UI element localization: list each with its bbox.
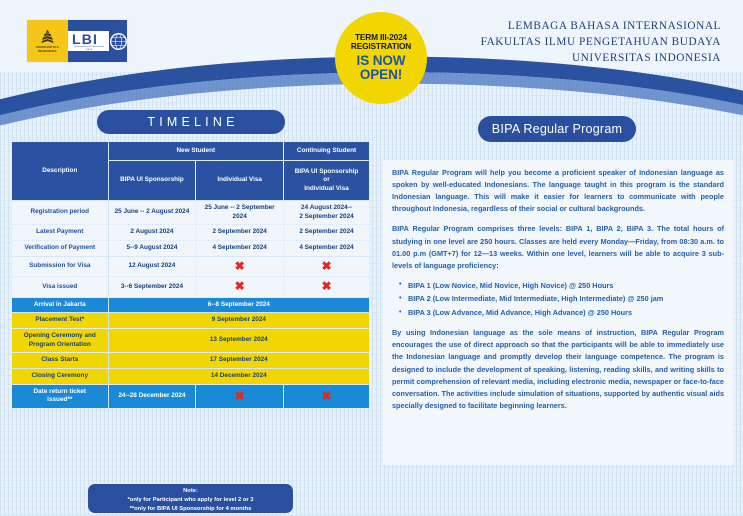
bipa-program-heading: BIPA Regular Program — [478, 116, 636, 142]
table-row: Class Starts17 September 2024 — [12, 353, 369, 368]
program-description-box: BIPA Regular Program will help you becom… — [383, 160, 733, 465]
table-header-row-1: Description New Student Continuing Stude… — [12, 142, 369, 160]
row-label: Arrival in Jakarta — [12, 298, 108, 313]
row-label-line-2: Program Orientation — [15, 341, 105, 350]
row-value: 12 August 2024 — [109, 257, 196, 277]
row-value: ✖ — [284, 257, 369, 277]
not-applicable-x-icon: ✖ — [321, 260, 331, 272]
row-value: 3--6 September 2024 — [109, 277, 196, 297]
table-row: Latest Payment2 August 20242 September 2… — [12, 225, 369, 240]
timeline-table: Description New Student Continuing Stude… — [11, 141, 370, 409]
row-value: 9 September 2024 — [109, 313, 369, 328]
list-item: BIPA 1 (Low Novice, Mid Novice, High Nov… — [408, 280, 724, 292]
lbi-subcaption: Lembaga Bahasa Internasional FIB UI — [72, 46, 106, 51]
lbi-letters: LBI — [72, 31, 98, 47]
row-value: 25 June -- 2 August 2024 — [109, 201, 196, 224]
not-applicable-x-icon: ✖ — [321, 280, 331, 292]
row-label: Verification of Payment — [12, 241, 108, 256]
table-row: Placement Test*9 September 2024 — [12, 313, 369, 328]
row-label: Latest Payment — [12, 225, 108, 240]
logo-block: UNIVERSITAS INDONESIA LBI Lembaga Bahasa… — [27, 20, 127, 62]
row-label: Submission for Visa — [12, 257, 108, 277]
not-applicable-x-icon: ✖ — [235, 390, 245, 402]
continuing-sub-line-2: or — [287, 176, 366, 185]
row-value-line-1: 24 August 2024-- — [287, 204, 366, 213]
continuing-sub-line-1: BIPA UI Sponsorship — [287, 168, 366, 177]
table-row: Arrival in Jakarta6--8 September 2024 — [12, 298, 369, 313]
row-label: Registration period — [12, 201, 108, 224]
footnote-title: Note: — [88, 487, 293, 496]
row-value-line-2: 2 September 2024 — [287, 213, 366, 222]
row-label: Closing Ceremony — [12, 369, 108, 384]
row-value: 4 September 2024 — [196, 241, 283, 256]
table-row: Registration period25 June -- 2 August 2… — [12, 201, 369, 224]
table-row: Opening Ceremony andProgram Orientation1… — [12, 329, 369, 352]
row-value: ✖ — [196, 385, 283, 408]
row-value: 25 June -- 2 September 2024 — [196, 201, 283, 224]
row-label: Class Starts — [12, 353, 108, 368]
row-value: 24 August 2024--2 September 2024 — [284, 201, 369, 224]
registration-open-badge: TERM III-2024 REGISTRATION IS NOW OPEN! — [335, 12, 427, 104]
row-value: 2 September 2024 — [196, 225, 283, 240]
row-label: Placement Test* — [12, 313, 108, 328]
row-value: ✖ — [284, 385, 369, 408]
makara-icon — [39, 28, 56, 45]
program-levels-list: BIPA 1 (Low Novice, Mid Novice, High Nov… — [392, 280, 724, 319]
header-bipa-sponsorship: BIPA UI Sponsorship — [109, 161, 196, 200]
universitas-indonesia-logo: UNIVERSITAS INDONESIA — [27, 20, 68, 62]
badge-registration-line: REGISTRATION — [351, 42, 411, 51]
table-row: Visa issued3--6 September 2024✖✖ — [12, 277, 369, 297]
row-value: 17 September 2024 — [109, 353, 369, 368]
row-label: Date return ticketissued** — [12, 385, 108, 408]
badge-isnow-line: IS NOW — [357, 54, 406, 69]
badge-open-line: OPEN! — [360, 68, 402, 83]
row-value: ✖ — [196, 277, 283, 297]
program-paragraph-2: BIPA Regular Program comprises three lev… — [392, 223, 724, 271]
row-value: 2 August 2024 — [109, 225, 196, 240]
row-value: 24--28 December 2024 — [109, 385, 196, 408]
footnote-box: Note: *only for Participant who apply fo… — [88, 484, 293, 513]
row-value: 6--8 September 2024 — [109, 298, 369, 313]
institution-line-1: LEMBAGA BAHASA INTERNASIONAL — [481, 18, 721, 34]
header-individual-visa: Individual Visa — [196, 161, 283, 200]
row-label-line-2: issued** — [15, 396, 105, 405]
program-paragraph-3: By using Indonesian language as the sole… — [392, 327, 724, 412]
not-applicable-x-icon: ✖ — [235, 280, 245, 292]
table-row: Verification of Payment5--9 August 20244… — [12, 241, 369, 256]
row-value: 2 September 2024 — [284, 225, 369, 240]
table-row: Submission for Visa12 August 2024✖✖ — [12, 257, 369, 277]
row-label-line-1: Opening Ceremony and — [15, 332, 105, 341]
row-value: 4 September 2024 — [284, 241, 369, 256]
footnote-line-2: **only for BIPA UI Sponsorship for 4 mon… — [88, 505, 293, 514]
lbi-logo: LBI Lembaga Bahasa Internasional FIB UI — [68, 20, 127, 62]
table-row: Closing Ceremony14 December 2024 — [12, 369, 369, 384]
row-value: 13 September 2024 — [109, 329, 369, 352]
header-continuing-sub: BIPA UI Sponsorship or Individual Visa — [284, 161, 369, 200]
row-label-line-1: Date return ticket — [15, 388, 105, 397]
list-item: BIPA 3 (Low Advance, Mid Advance, High A… — [408, 307, 724, 319]
row-label: Opening Ceremony andProgram Orientation — [12, 329, 108, 352]
not-applicable-x-icon: ✖ — [235, 260, 245, 272]
globe-icon — [110, 33, 127, 50]
logo-ui-caption: UNIVERSITAS INDONESIA — [27, 46, 68, 54]
row-value: 5--9 August 2024 — [109, 241, 196, 256]
institution-line-2: FAKULTAS ILMU PENGETAHUAN BUDAYA — [481, 34, 721, 50]
header-new-student: New Student — [109, 142, 283, 160]
lbi-wordmark: LBI Lembaga Bahasa Internasional FIB UI — [68, 31, 109, 52]
table-row: Date return ticketissued**24--28 Decembe… — [12, 385, 369, 408]
row-value: 14 December 2024 — [109, 369, 369, 384]
timeline-heading: TIMELINE — [97, 110, 285, 134]
institution-line-3: UNIVERSITAS INDONESIA — [481, 50, 721, 66]
header-description: Description — [12, 142, 108, 200]
header-continuing-student: Continuing Student — [284, 142, 369, 160]
timeline-table-body: Registration period25 June -- 2 August 2… — [12, 201, 369, 408]
timeline-table-wrap: Description New Student Continuing Stude… — [11, 141, 370, 409]
footnote-line-1: *only for Participant who apply for leve… — [88, 496, 293, 505]
institution-title: LEMBAGA BAHASA INTERNASIONAL FAKULTAS IL… — [481, 18, 721, 66]
not-applicable-x-icon: ✖ — [321, 390, 331, 402]
row-label: Visa issued — [12, 277, 108, 297]
list-item: BIPA 2 (Low Intermediate, Mid Intermedia… — [408, 293, 724, 305]
program-paragraph-1: BIPA Regular Program will help you becom… — [392, 167, 724, 215]
continuing-sub-line-3: Individual Visa — [287, 185, 366, 194]
row-value: ✖ — [196, 257, 283, 277]
row-value: ✖ — [284, 277, 369, 297]
